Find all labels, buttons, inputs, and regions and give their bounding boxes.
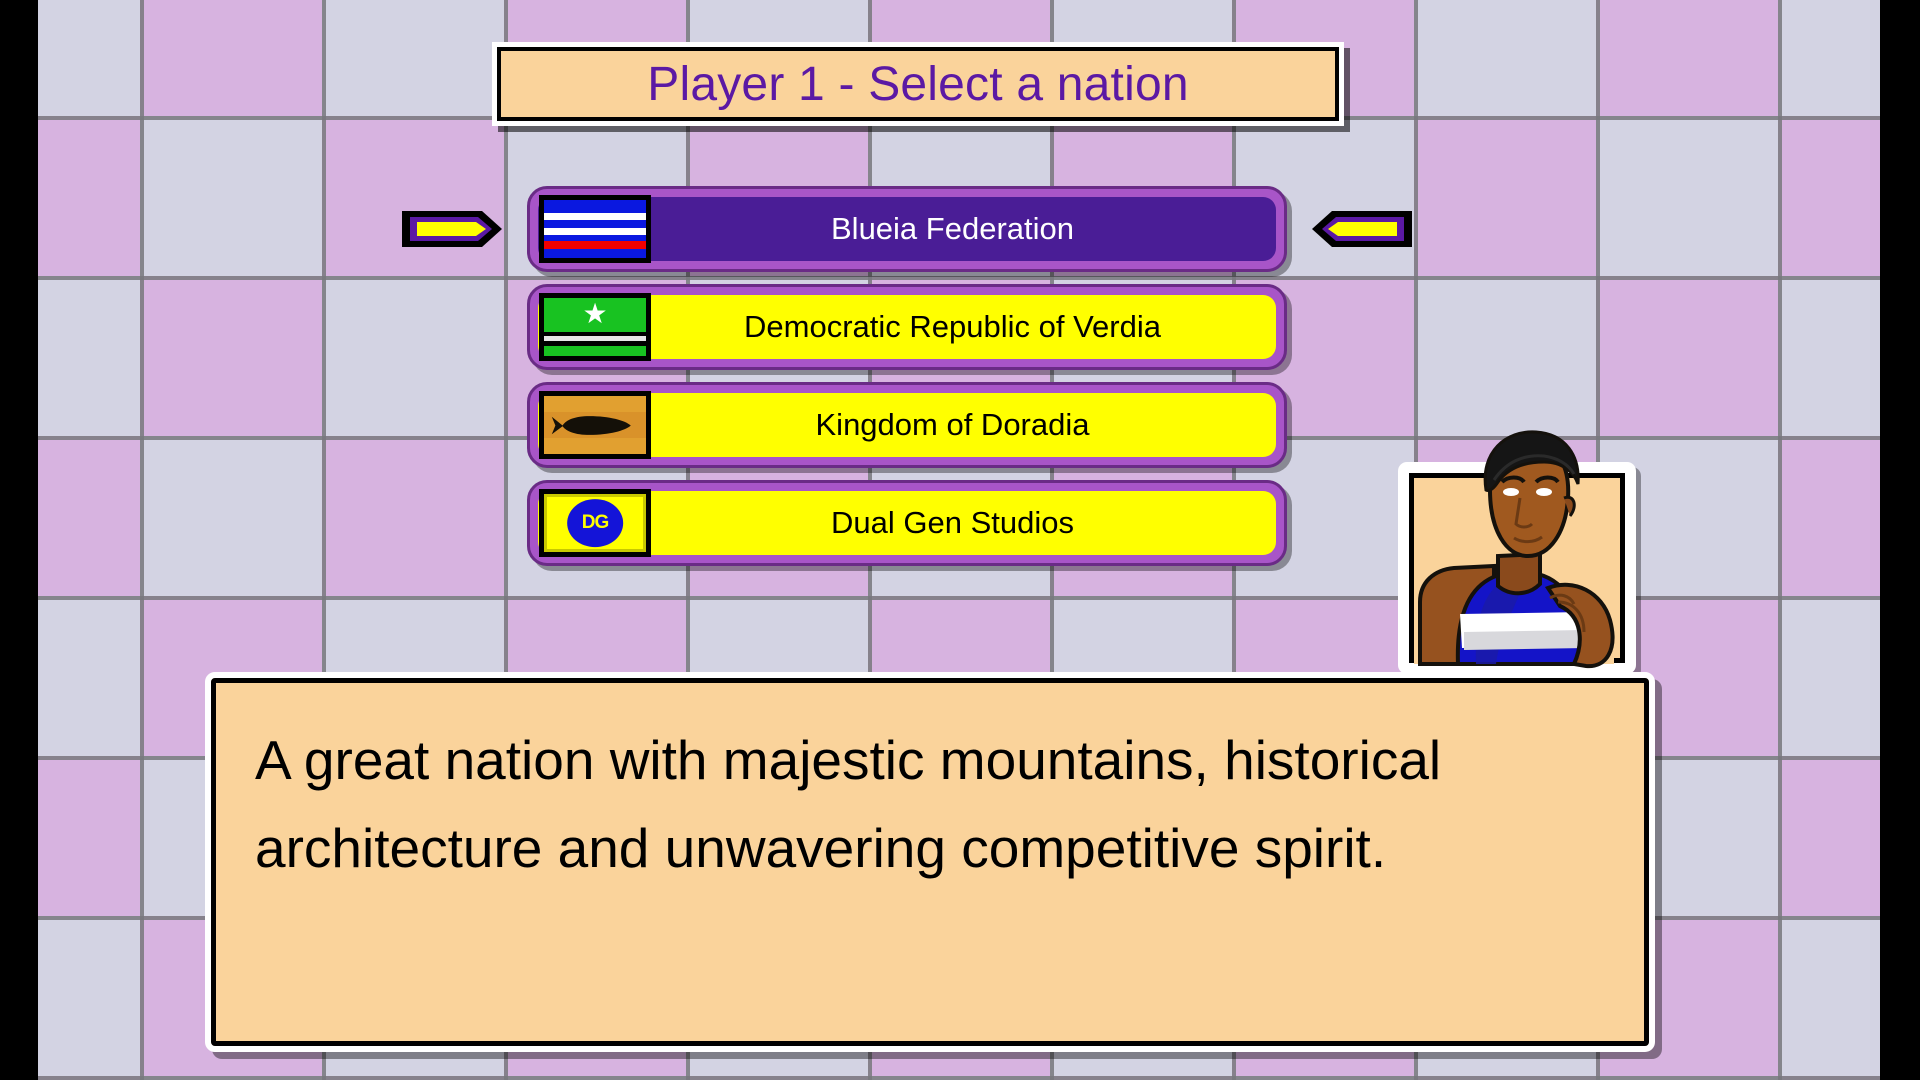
- nation-option-blueia-federation[interactable]: Blueia Federation: [527, 186, 1287, 272]
- previous-indicator-arrow-right-icon[interactable]: [398, 205, 506, 253]
- nation-description-box: A great nation with majestic mountains, …: [205, 672, 1655, 1052]
- nation-option-kingdom-of-doradia[interactable]: Kingdom of Doradia: [527, 382, 1287, 468]
- character-portrait-frame: [1398, 462, 1636, 674]
- nation-option-label: Dual Gen Studios: [651, 505, 1274, 541]
- nation-option-dual-gen-studios[interactable]: DG Dual Gen Studios: [527, 480, 1287, 566]
- nation-option-label: Democratic Republic of Verdia: [651, 309, 1274, 345]
- nation-option-label: Kingdom of Doradia: [651, 407, 1274, 443]
- title-banner: Player 1 - Select a nation: [492, 42, 1344, 126]
- character-portrait: [1409, 473, 1625, 663]
- character-portrait-art: [1398, 406, 1628, 696]
- nation-option-label: Blueia Federation: [651, 211, 1274, 247]
- nation-option-democratic-republic-of-verdia[interactable]: ★ Democratic Republic of Verdia: [527, 284, 1287, 370]
- blueia-flag-icon: [539, 195, 651, 263]
- fish-icon: [550, 411, 640, 440]
- verdia-flag-icon: ★: [539, 293, 651, 361]
- dg-logo-text: DG: [582, 512, 609, 534]
- page-title: Player 1 - Select a nation: [647, 57, 1189, 112]
- game-screen: Player 1 - Select a nation Blueia Federa…: [0, 0, 1920, 1080]
- doradia-flag-icon: [539, 391, 651, 459]
- dual-gen-studios-logo-icon: DG: [539, 489, 651, 557]
- next-indicator-arrow-left-icon[interactable]: [1308, 205, 1416, 253]
- nation-description-text: A great nation with majestic mountains, …: [255, 716, 1605, 892]
- nation-list: Blueia Federation ★ Democratic Republic …: [527, 186, 1287, 578]
